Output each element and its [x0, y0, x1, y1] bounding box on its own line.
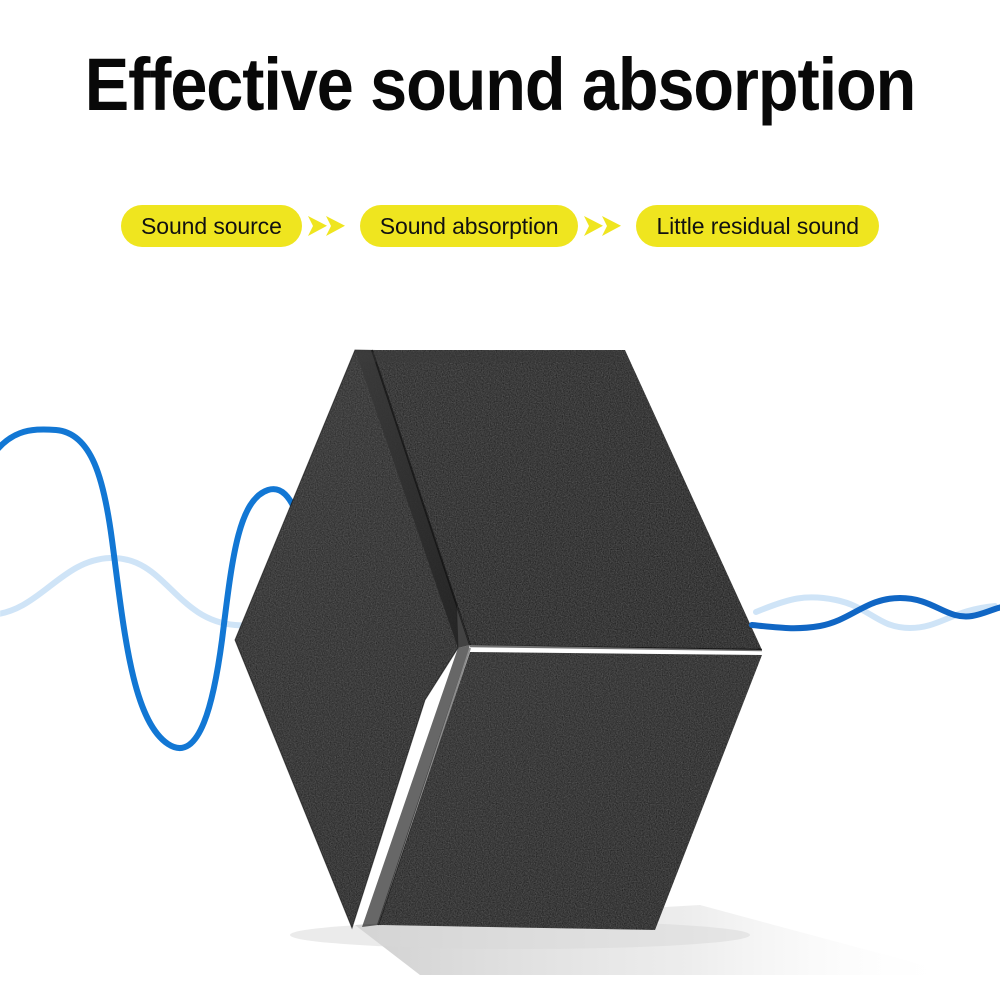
panel-face-bottom-right: [378, 652, 762, 930]
promo-banner: Effective sound absorption Sound source …: [0, 0, 1000, 1000]
product-scene: [0, 0, 1000, 1000]
hexagonal-acoustic-panel: [235, 350, 762, 930]
